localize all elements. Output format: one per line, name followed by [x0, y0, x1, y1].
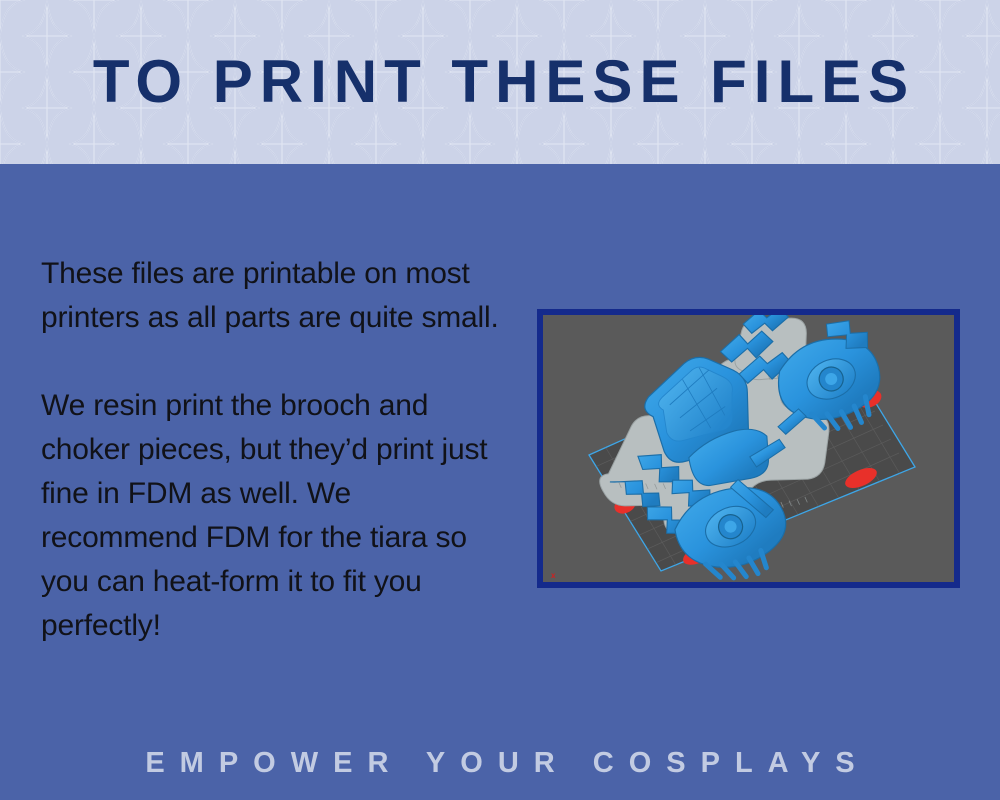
header-banner: TO PRINT THESE FILES	[0, 0, 1000, 164]
page-title: TO PRINT THESE FILES	[0, 0, 1000, 164]
paragraph-intro: These files are printable on most printe…	[41, 252, 511, 340]
paragraph-printing-advice: We resin print the brooch and choker pie…	[41, 384, 511, 648]
slicer-viewport	[543, 315, 954, 582]
body-copy: These files are printable on most printe…	[41, 252, 511, 648]
slide-root: TO PRINT THESE FILES These files are pri…	[0, 0, 1000, 800]
print-preview-frame: x	[537, 309, 960, 588]
footer-tagline: EMPOWER YOUR COSPLAYS	[0, 735, 1000, 791]
axis-origin-label: x	[551, 572, 555, 580]
paragraph-spacer	[41, 340, 511, 384]
